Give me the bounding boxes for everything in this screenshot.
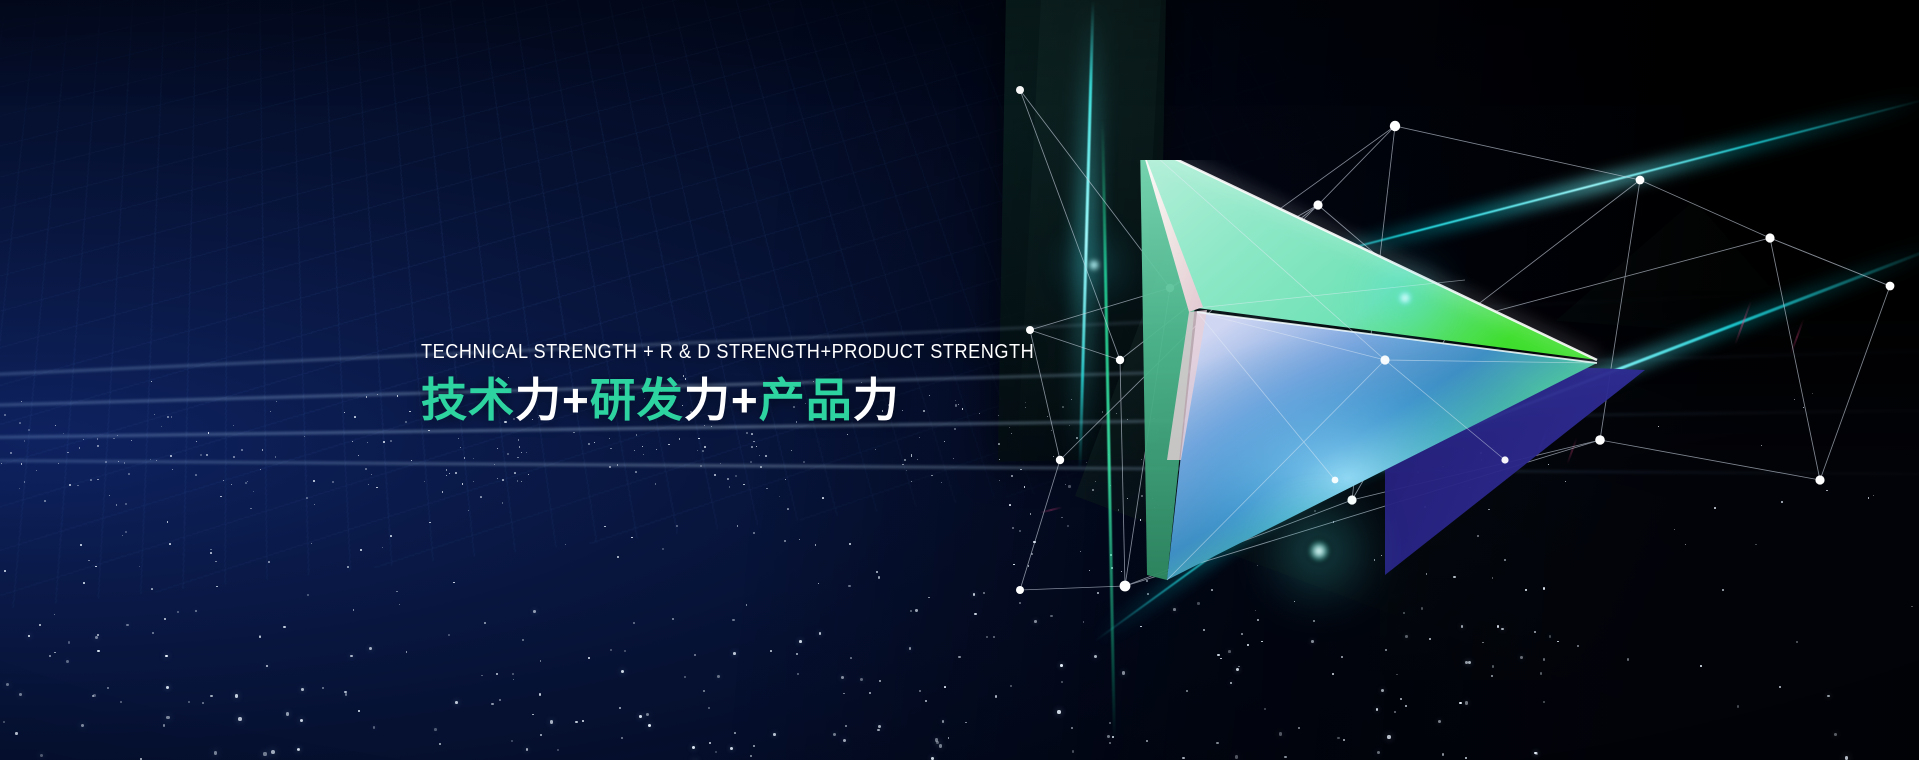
- headline-segment-3: 研发: [590, 374, 684, 426]
- network-node: [1016, 586, 1024, 594]
- arrow-node: [1501, 456, 1508, 463]
- network-node: [1815, 475, 1824, 484]
- 3d-arrow-play-dart: [1085, 160, 1645, 630]
- headline-segment-2: +: [562, 374, 590, 426]
- headline-segment-4: 力: [684, 374, 731, 426]
- network-node: [1026, 326, 1034, 334]
- network-node: [1886, 282, 1895, 291]
- headline-segment-7: 力: [853, 374, 900, 426]
- network-node: [1765, 233, 1774, 242]
- network-node: [1056, 456, 1064, 464]
- network-node: [1390, 121, 1400, 131]
- headline-segment-5: +: [731, 374, 759, 426]
- page-title: 技术力+研发力+产品力: [421, 376, 1141, 426]
- eyebrow-text: TECHNICAL STRENGTH + R & D STRENGTH+PROD…: [421, 342, 1058, 363]
- network-node: [1016, 86, 1024, 94]
- headline-segment-1: 力: [515, 374, 562, 426]
- headline-block: TECHNICAL STRENGTH + R & D STRENGTH+PROD…: [421, 342, 1141, 425]
- hero-banner: TECHNICAL STRENGTH + R & D STRENGTH+PROD…: [0, 0, 1919, 760]
- headline-segment-0: 技术: [421, 374, 515, 426]
- headline-segment-6: 产品: [759, 374, 853, 426]
- arrow-node: [1332, 477, 1339, 484]
- arrow-node: [1380, 355, 1389, 364]
